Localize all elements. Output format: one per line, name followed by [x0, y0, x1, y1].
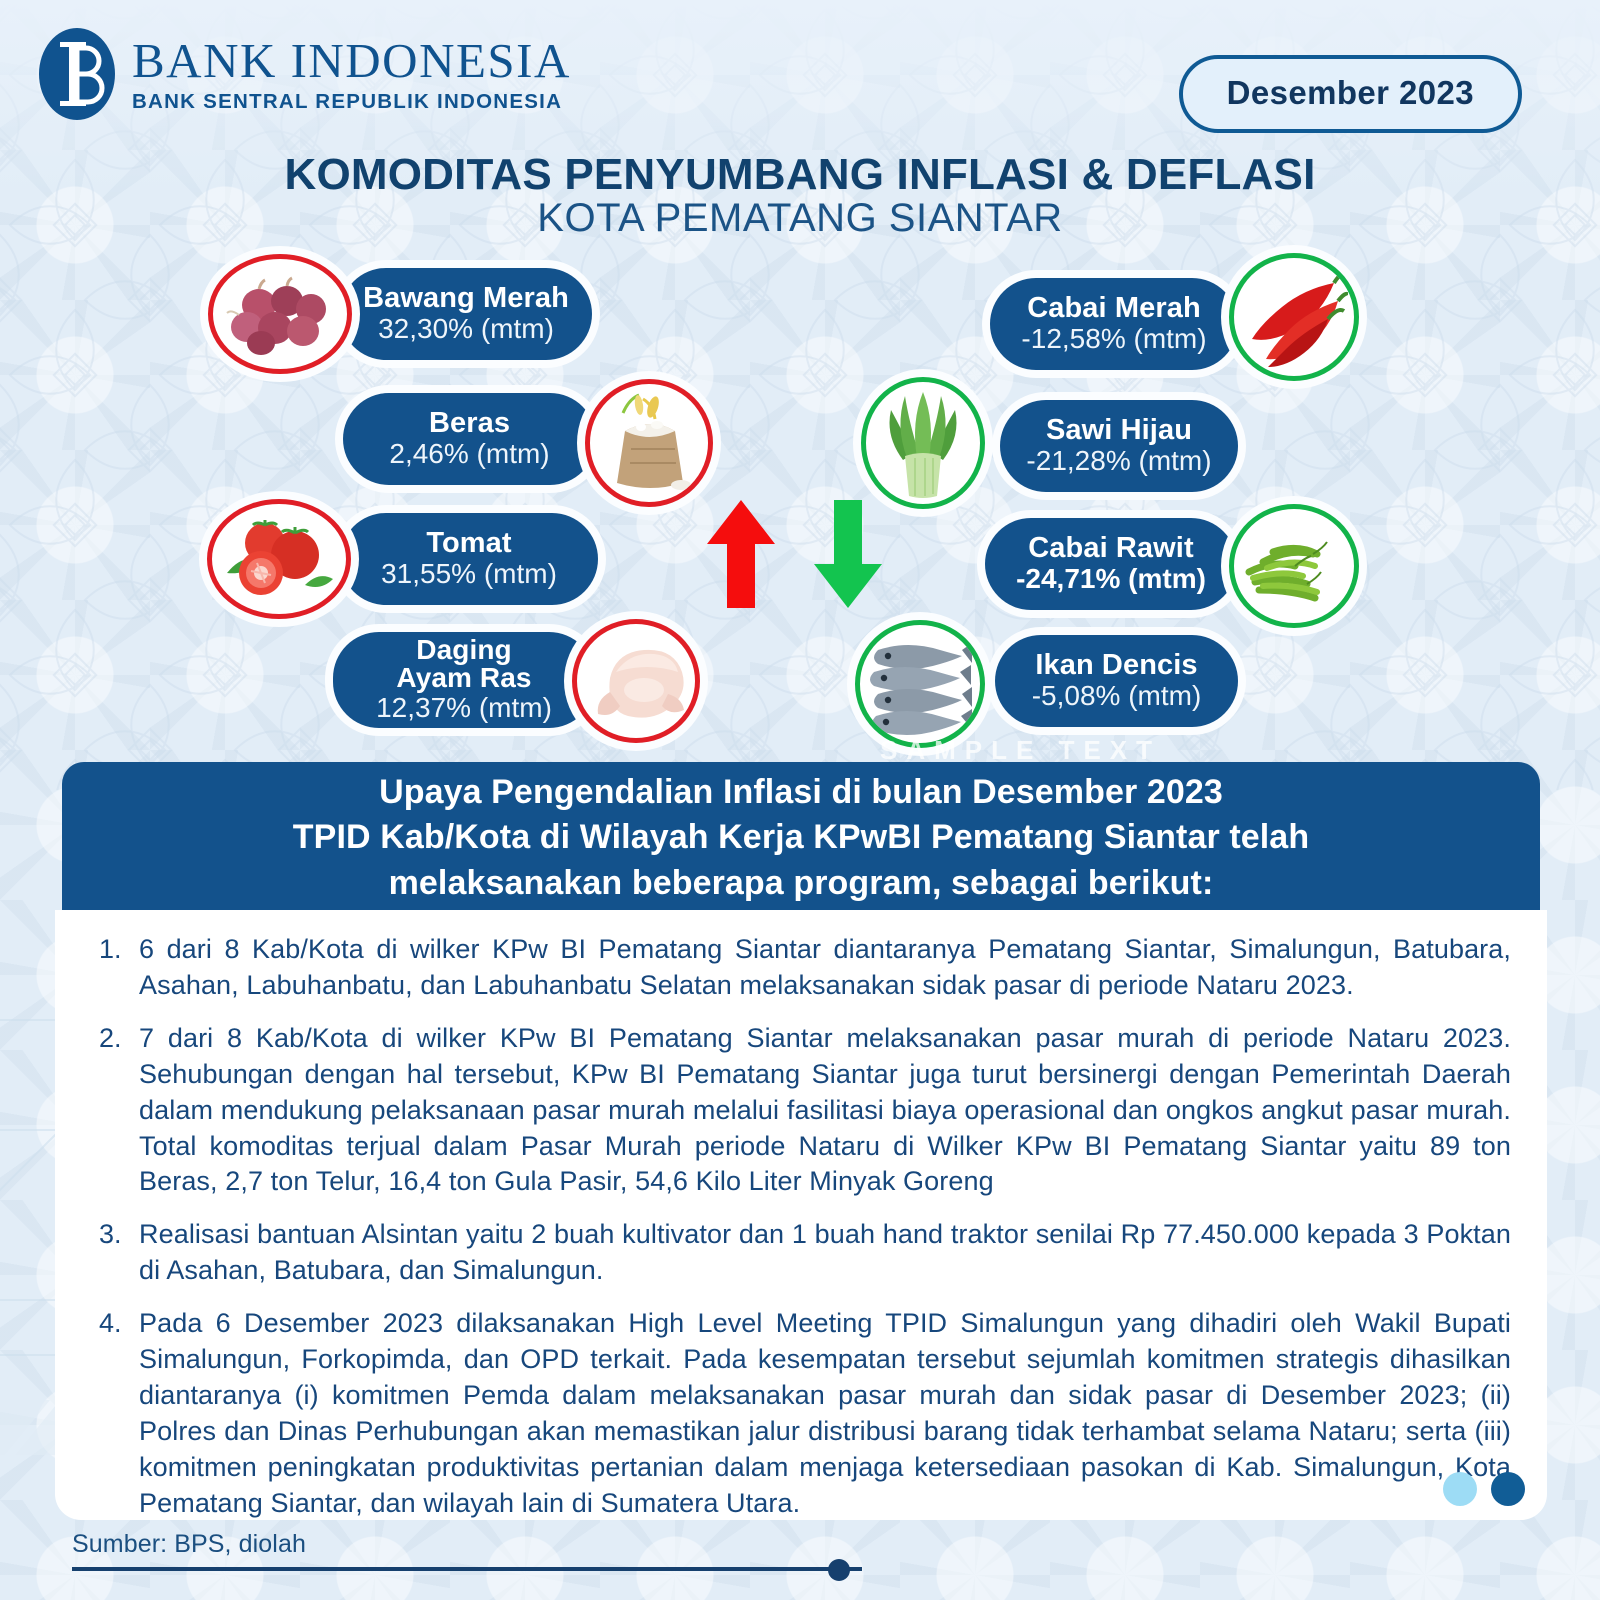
green-chili-icon — [1229, 504, 1359, 628]
commodity-value: 31,55% (mtm) — [381, 558, 557, 589]
arrow-up-icon — [705, 500, 777, 608]
commodity-value: 2,46% (mtm) — [389, 438, 549, 469]
brand-name: BANK INDONESIA — [132, 36, 571, 85]
commodity-card-sawi-hijau: Sawi Hijau -21,28% (mtm) — [1000, 400, 1238, 492]
list-item-number: 1. — [91, 932, 139, 968]
commodity-card-tomat: Tomat 31,55% (mtm) — [340, 513, 598, 605]
red-chili-icon — [1229, 253, 1359, 381]
list-item: 1. 6 dari 8 Kab/Kota di wilker KPw BI Pe… — [91, 932, 1511, 1004]
commodity-card-daging-ayam-ras: Daging Ayam Ras 12,37% (mtm) — [333, 632, 595, 728]
commodity-value: -12,58% (mtm) — [1021, 323, 1206, 354]
footer-rule-knob — [828, 1559, 850, 1581]
programs-banner: Upaya Pengendalian Inflasi di bulan Dese… — [62, 762, 1540, 910]
sample-text-watermark: SAMPLE TEXT — [880, 735, 1161, 766]
page-subtitle: KOTA PEMATANG SIANTAR — [0, 196, 1600, 241]
commodity-value: -24,71% (mtm) — [1016, 563, 1206, 594]
commodity-name: Ikan Dencis — [1035, 650, 1197, 680]
commodity-name-line1: Daging — [416, 636, 511, 664]
page-dot-active[interactable] — [1491, 1472, 1525, 1506]
bank-indonesia-logo-icon — [38, 26, 116, 122]
commodity-name: Tomat — [426, 528, 511, 558]
banner-line-3: melaksanakan beberapa program, sebagai b… — [389, 861, 1214, 907]
green-mustard-icon — [861, 377, 985, 509]
footer-rule-line — [72, 1567, 862, 1571]
banner-line-1: Upaya Pengendalian Inflasi di bulan Dese… — [379, 770, 1223, 816]
list-item: 2. 7 dari 8 Kab/Kota di wilker KPw BI Pe… — [91, 1021, 1511, 1201]
list-item-number: 3. — [91, 1217, 139, 1253]
commodity-value: 12,37% (mtm) — [376, 692, 552, 723]
list-item-text: 7 dari 8 Kab/Kota di wilker KPw BI Pemat… — [139, 1021, 1511, 1201]
source-label: Sumber: BPS, diolah — [72, 1530, 892, 1559]
tomato-icon — [207, 499, 351, 619]
commodity-value: -21,28% (mtm) — [1026, 445, 1211, 476]
fish-icon — [855, 620, 985, 748]
list-item-number: 4. — [91, 1306, 139, 1342]
list-item: 3. Realisasi bantuan Alsintan yaitu 2 bu… — [91, 1217, 1511, 1289]
brand-subtitle: BANK SENTRAL REPUBLIK INDONESIA — [132, 92, 571, 113]
footer: Sumber: BPS, diolah — [72, 1530, 892, 1572]
chicken-icon — [572, 619, 700, 743]
commodity-card-ikan-dencis: Ikan Dencis -5,08% (mtm) — [995, 635, 1238, 727]
commodity-card-beras: Beras 2,46% (mtm) — [343, 393, 596, 485]
brand-header: BANK INDONESIA BANK SENTRAL REPUBLIK IND… — [38, 26, 571, 122]
banner-line-2: TPID Kab/Kota di Wilayah Kerja KPwBI Pem… — [293, 815, 1309, 861]
list-item-text: 6 dari 8 Kab/Kota di wilker KPw BI Pemat… — [139, 932, 1511, 1004]
page-title: KOMODITAS PENYUMBANG INFLASI & DEFLASI — [0, 150, 1600, 200]
commodity-name: Cabai Merah — [1027, 293, 1201, 323]
page-indicator-dots[interactable] — [1443, 1472, 1525, 1506]
commodity-card-bawang-merah: Bawang Merah 32,30% (mtm) — [340, 268, 592, 360]
commodity-value: 32,30% (mtm) — [378, 313, 554, 344]
commodity-name: Sawi Hijau — [1046, 415, 1192, 445]
list-item-number: 2. — [91, 1021, 139, 1057]
commodity-name: Beras — [429, 408, 510, 438]
commodity-name: Cabai Rawit — [1028, 533, 1193, 563]
commodity-card-cabai-merah: Cabai Merah -12,58% (mtm) — [990, 278, 1238, 370]
rice-sack-icon — [585, 379, 713, 507]
list-item-text: Realisasi bantuan Alsintan yaitu 2 buah … — [139, 1217, 1511, 1289]
shallots-icon — [208, 254, 352, 374]
page-dot-inactive[interactable] — [1443, 1472, 1477, 1506]
list-item: 4. Pada 6 Desember 2023 dilaksanakan Hig… — [91, 1306, 1511, 1521]
list-item-text: Pada 6 Desember 2023 dilaksanakan High L… — [139, 1306, 1511, 1521]
commodity-value: -5,08% (mtm) — [1032, 680, 1202, 711]
arrow-down-icon — [812, 500, 884, 608]
commodity-name: Bawang Merah — [363, 283, 569, 313]
programs-panel: 1. 6 dari 8 Kab/Kota di wilker KPw BI Pe… — [55, 910, 1547, 1520]
date-badge: Desember 2023 — [1179, 55, 1522, 133]
footer-rule — [72, 1564, 892, 1572]
commodity-name-line2: Ayam Ras — [396, 664, 531, 692]
commodity-card-cabai-rawit: Cabai Rawit -24,71% (mtm) — [985, 518, 1237, 610]
